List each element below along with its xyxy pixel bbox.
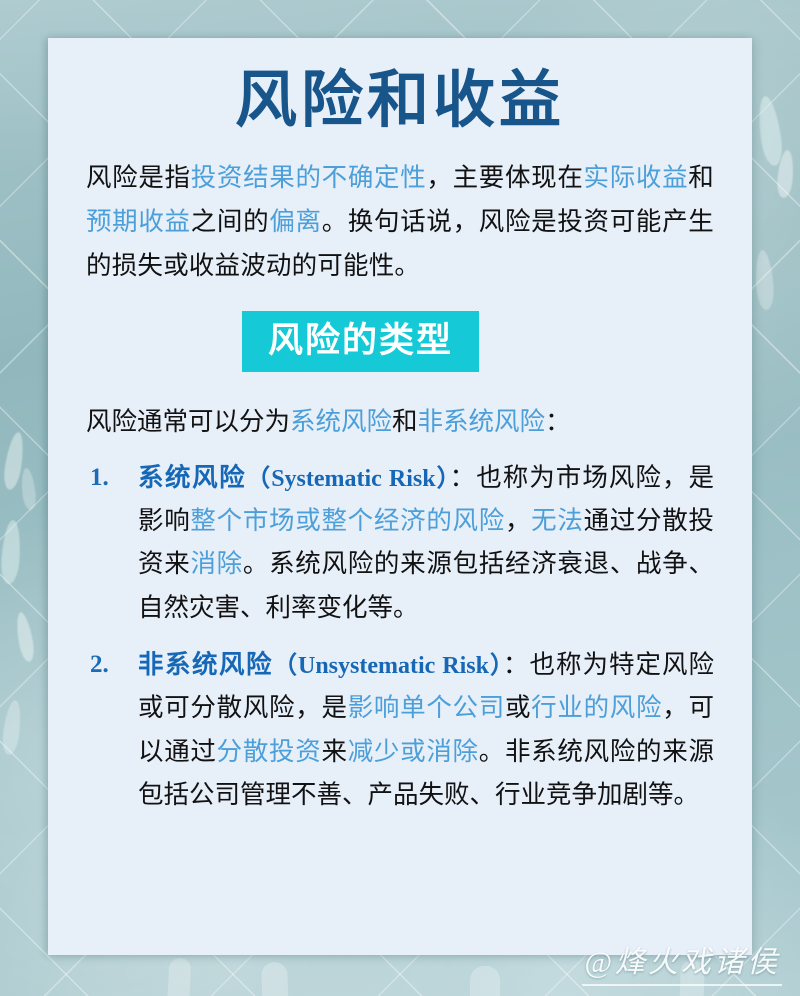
poster-canvas: 风险和收益 风险是指投资结果的不确定性，主要体现在实际收益和预期收益之间的偏离。… <box>0 0 800 996</box>
intro-text-1: 风险是指 <box>86 164 191 192</box>
list-item-number: 1. <box>90 457 109 500</box>
lead-text-2: 和 <box>392 408 418 436</box>
list-item-term-cn: 系统风险 <box>138 464 246 492</box>
list-item-highlight-2: 行业的风险 <box>531 694 662 722</box>
lead-paragraph: 风险通常可以分为系统风险和非系统风险： <box>86 402 714 443</box>
list-item-term-en: （Systematic Risk） <box>246 466 449 492</box>
list-item: 1.系统风险（Systematic Risk）：也称为市场风险，是影响整个市场或… <box>86 457 714 630</box>
list-item-highlight-2: 无法 <box>531 507 583 535</box>
list-item-body-2: 或 <box>505 694 531 722</box>
lead-text-3: ： <box>545 408 571 436</box>
section-badge-container: 风险的类型 <box>48 311 752 372</box>
page-title: 风险和收益 <box>48 66 752 137</box>
intro-highlight-3: 预期收益 <box>86 208 191 236</box>
intro-paragraph: 风险是指投资结果的不确定性，主要体现在实际收益和预期收益之间的偏离。换句话说，风… <box>86 157 714 289</box>
intro-text-2: ，主要体现在 <box>426 164 583 192</box>
content-card: 风险和收益 风险是指投资结果的不确定性，主要体现在实际收益和预期收益之间的偏离。… <box>48 38 752 955</box>
list-item-highlight-1: 整个市场或整个经济的风险 <box>190 507 505 535</box>
list-item-colon: ： <box>450 464 477 492</box>
intro-highlight-1: 投资结果的不确定性 <box>191 164 427 192</box>
list-item-body-4: 来 <box>321 738 347 766</box>
list-item-term-cn: 非系统风险 <box>138 651 273 679</box>
intro-text-3: 和 <box>688 164 714 192</box>
list-item-body-2: ， <box>505 507 531 535</box>
lead-highlight-1: 系统风险 <box>290 408 392 436</box>
list-item-highlight-4: 减少或消除 <box>348 738 479 766</box>
list-item-highlight-3: 分散投资 <box>217 738 322 766</box>
list-item-number: 2. <box>90 644 109 687</box>
list-item-highlight-3: 消除 <box>190 550 242 578</box>
list-item-term-en: （Unsystematic Risk） <box>273 653 503 679</box>
intro-text-4: 之间的 <box>191 208 270 236</box>
intro-highlight-4: 偏离 <box>269 208 321 236</box>
lead-highlight-2: 非系统风险 <box>418 408 546 436</box>
risk-type-list: 1.系统风险（Systematic Risk）：也称为市场风险，是影响整个市场或… <box>86 457 714 818</box>
watermark: @烽火戏诸侯 <box>582 937 782 986</box>
lead-text-1: 风险通常可以分为 <box>86 408 290 436</box>
list-item-highlight-1: 影响单个公司 <box>348 694 505 722</box>
intro-highlight-2: 实际收益 <box>584 164 689 192</box>
list-item-colon: ： <box>503 651 530 679</box>
list-item: 2.非系统风险（Unsystematic Risk）：也称为特定风险或可分散风险… <box>86 644 714 817</box>
section-heading-badge: 风险的类型 <box>242 311 479 372</box>
